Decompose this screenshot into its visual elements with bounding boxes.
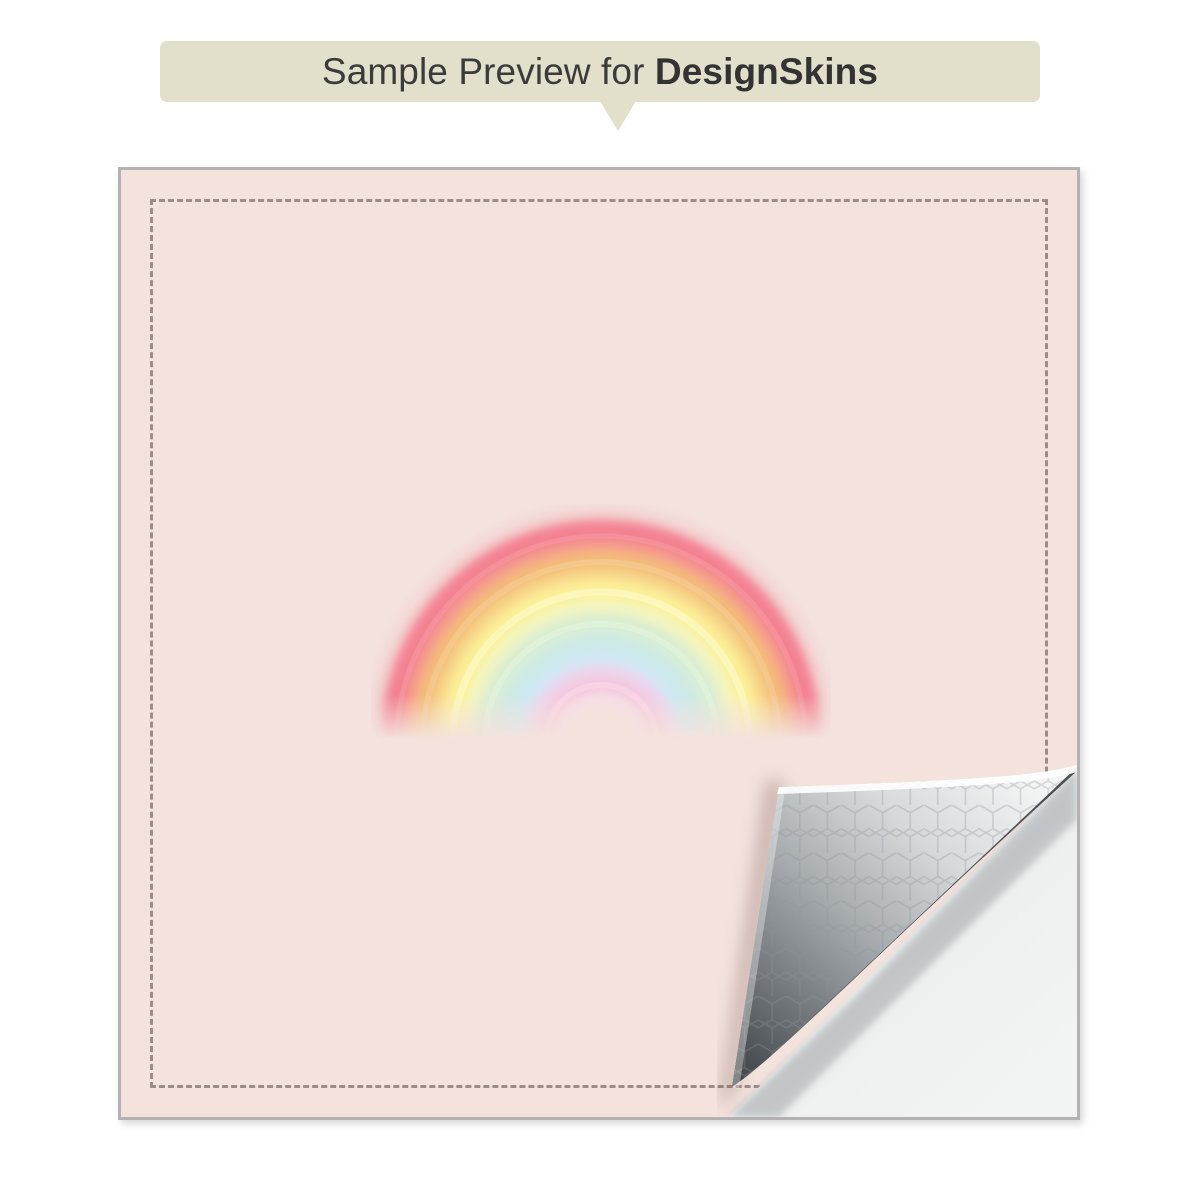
banner-label-plain: Sample Preview for bbox=[322, 51, 655, 92]
banner-label: Sample Preview for DesignSkins bbox=[322, 53, 878, 90]
banner-brand-name: DesignSkins bbox=[655, 51, 878, 92]
pastel-neon-rainbow bbox=[371, 490, 831, 740]
peeling-corner[interactable] bbox=[717, 757, 1077, 1117]
rainbow-svg bbox=[371, 490, 831, 740]
banner-tail-icon bbox=[600, 101, 636, 131]
preview-banner: Sample Preview for DesignSkins bbox=[160, 41, 1040, 102]
peel-svg bbox=[717, 757, 1077, 1117]
banner-body: Sample Preview for DesignSkins bbox=[160, 41, 1040, 102]
rainbow-bands bbox=[387, 526, 815, 740]
sticker-sheet bbox=[118, 167, 1080, 1120]
preview-canvas: Sample Preview for DesignSkins bbox=[0, 0, 1200, 1200]
